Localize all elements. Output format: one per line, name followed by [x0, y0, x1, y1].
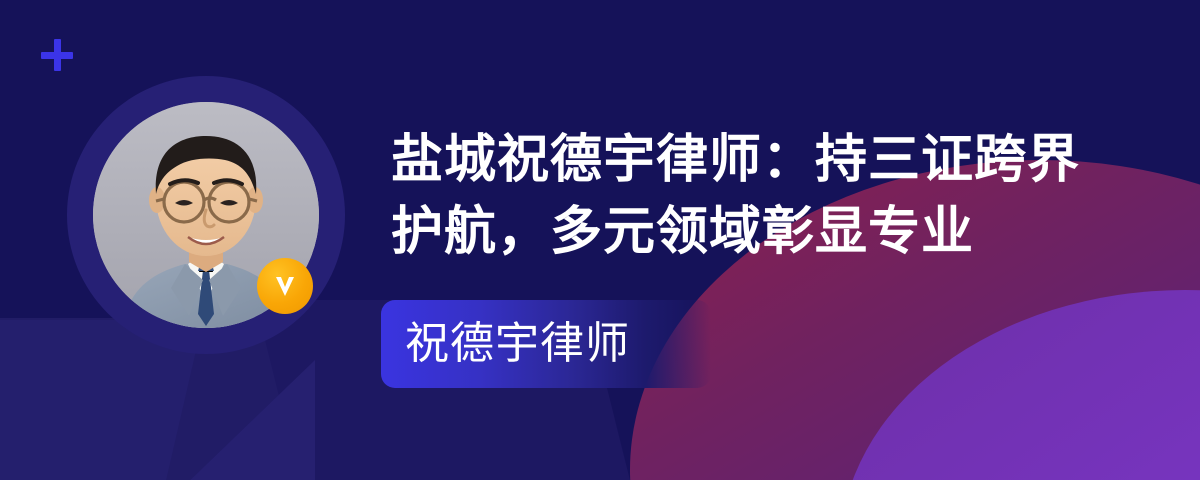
plus-icon [41, 39, 73, 71]
lawyer-name-label: 祝德宇律师 [405, 318, 630, 370]
avatar[interactable] [67, 76, 345, 354]
verified-badge-icon [257, 258, 313, 314]
plus-icon-bar-vertical [54, 39, 61, 71]
page-title: 盐城祝德宇律师：持三证跨界护航，多元领域彰显专业 [391, 124, 1091, 268]
lawyer-profile-banner: 祝德宇律师 盐城祝德宇律师：持三证跨界护航，多元领域彰显专业 [0, 0, 1200, 480]
background-triangle [180, 360, 315, 480]
